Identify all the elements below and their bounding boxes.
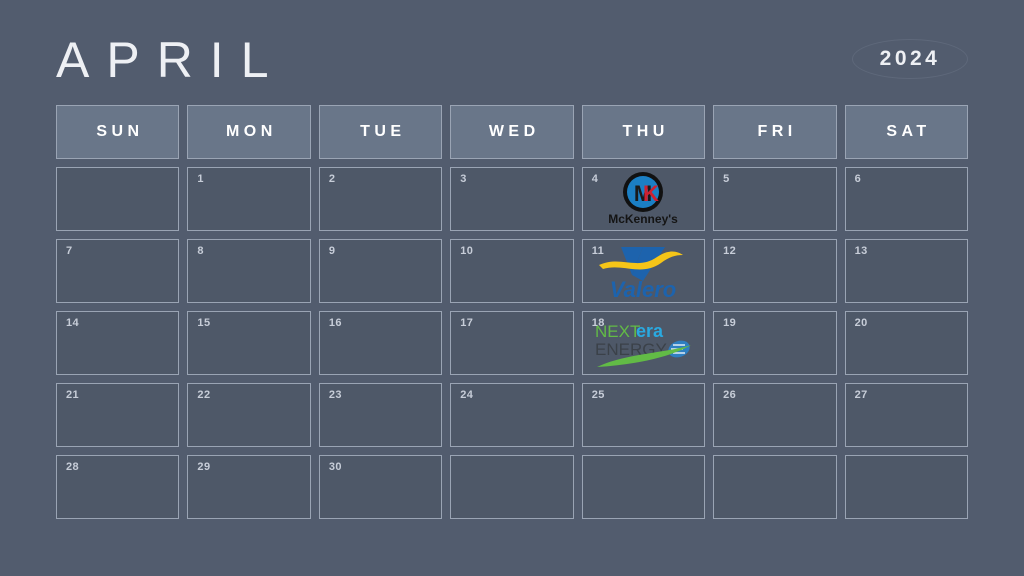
calendar-day-cell[interactable]: 6 bbox=[845, 167, 968, 231]
day-number: 21 bbox=[66, 389, 79, 401]
day-number: 9 bbox=[329, 245, 336, 257]
calendar-week-row: 7891011 Valero 1213 bbox=[56, 239, 968, 303]
day-number: 24 bbox=[460, 389, 473, 401]
weekday-label: WED bbox=[484, 123, 539, 141]
calendar-day-cell-empty[interactable] bbox=[56, 167, 179, 231]
svg-text:K: K bbox=[643, 181, 659, 206]
weekday-label: THU bbox=[618, 123, 669, 141]
day-number: 16 bbox=[329, 317, 342, 329]
calendar-week-row: 1234 M K McKenney's 56 bbox=[56, 167, 968, 231]
month-title: APRIL bbox=[56, 21, 286, 85]
day-number: 28 bbox=[66, 461, 79, 473]
calendar-day-cell[interactable]: 30 bbox=[319, 455, 442, 519]
day-number: 25 bbox=[592, 389, 605, 401]
calendar-header: APRIL 2024 bbox=[56, 0, 968, 105]
day-number: 19 bbox=[723, 317, 736, 329]
calendar-day-cell[interactable]: 27 bbox=[845, 383, 968, 447]
weekday-header-fri: FRI bbox=[713, 105, 836, 159]
day-number: 29 bbox=[197, 461, 210, 473]
calendar-week-row: 21222324252627 bbox=[56, 383, 968, 447]
calendar-day-cell[interactable]: 3 bbox=[450, 167, 573, 231]
day-number: 11 bbox=[592, 245, 604, 257]
calendar: APRIL 2024 SUNMONTUEWEDTHUFRISAT 1234 M … bbox=[0, 0, 1024, 576]
calendar-day-cell[interactable]: 11 Valero bbox=[582, 239, 705, 303]
day-number: 10 bbox=[460, 245, 473, 257]
day-number: 20 bbox=[855, 317, 868, 329]
weekday-header-sat: SAT bbox=[845, 105, 968, 159]
day-number: 5 bbox=[723, 173, 730, 185]
day-number: 8 bbox=[197, 245, 204, 257]
weekday-label: SUN bbox=[92, 123, 144, 141]
calendar-day-cell[interactable]: 14 bbox=[56, 311, 179, 375]
weekday-header-sun: SUN bbox=[56, 105, 179, 159]
calendar-day-cell[interactable]: 9 bbox=[319, 239, 442, 303]
calendar-body: 1234 M K McKenney's 567891011 Valero 121… bbox=[56, 167, 968, 519]
day-number: 30 bbox=[329, 461, 342, 473]
weekday-label: MON bbox=[221, 123, 276, 141]
day-number: 18 bbox=[592, 317, 605, 329]
day-number: 27 bbox=[855, 389, 868, 401]
day-number: 26 bbox=[723, 389, 736, 401]
calendar-week-row: 282930 bbox=[56, 455, 968, 519]
calendar-day-cell-empty[interactable] bbox=[582, 455, 705, 519]
calendar-day-cell[interactable]: 28 bbox=[56, 455, 179, 519]
calendar-day-cell[interactable]: 5 bbox=[713, 167, 836, 231]
svg-text:era: era bbox=[636, 321, 664, 341]
day-number: 7 bbox=[66, 245, 73, 257]
day-number: 2 bbox=[329, 173, 336, 185]
calendar-day-cell[interactable]: 26 bbox=[713, 383, 836, 447]
day-number: 3 bbox=[460, 173, 467, 185]
day-number: 14 bbox=[66, 317, 79, 329]
weekday-label: SAT bbox=[882, 123, 931, 141]
calendar-day-cell-empty[interactable] bbox=[450, 455, 573, 519]
weekday-header-mon: MON bbox=[187, 105, 310, 159]
day-number: 12 bbox=[723, 245, 736, 257]
day-number: 23 bbox=[329, 389, 342, 401]
day-number: 22 bbox=[197, 389, 210, 401]
calendar-day-cell[interactable]: 17 bbox=[450, 311, 573, 375]
calendar-week-row: 1415161718 NEXT era ENERGY 1920 bbox=[56, 311, 968, 375]
day-number: 17 bbox=[460, 317, 473, 329]
mckenneys-logo[interactable]: M K McKenney's bbox=[583, 168, 704, 230]
valero-logo-svg: Valero bbox=[591, 241, 695, 301]
calendar-day-cell[interactable]: 23 bbox=[319, 383, 442, 447]
svg-text:McKenney's: McKenney's bbox=[609, 212, 679, 226]
calendar-day-cell[interactable]: 18 NEXT era ENERGY bbox=[582, 311, 705, 375]
mckenneys-logo-svg: M K McKenney's bbox=[606, 171, 680, 227]
calendar-day-cell[interactable]: 1 bbox=[187, 167, 310, 231]
calendar-day-cell[interactable]: 25 bbox=[582, 383, 705, 447]
calendar-day-cell[interactable]: 15 bbox=[187, 311, 310, 375]
day-number: 13 bbox=[855, 245, 868, 257]
year-label: 2024 bbox=[880, 47, 941, 71]
day-number: 15 bbox=[197, 317, 210, 329]
year-badge: 2024 bbox=[852, 39, 968, 79]
weekday-label: FRI bbox=[753, 123, 797, 141]
calendar-day-cell[interactable]: 4 M K McKenney's bbox=[582, 167, 705, 231]
calendar-day-cell[interactable]: 21 bbox=[56, 383, 179, 447]
weekday-header-wed: WED bbox=[450, 105, 573, 159]
weekday-label: TUE bbox=[356, 123, 406, 141]
calendar-day-cell[interactable]: 10 bbox=[450, 239, 573, 303]
calendar-day-cell[interactable]: 29 bbox=[187, 455, 310, 519]
calendar-day-cell[interactable]: 8 bbox=[187, 239, 310, 303]
weekday-header-row: SUNMONTUEWEDTHUFRISAT bbox=[56, 105, 968, 159]
calendar-day-cell[interactable]: 24 bbox=[450, 383, 573, 447]
calendar-day-cell[interactable]: 7 bbox=[56, 239, 179, 303]
svg-text:Valero: Valero bbox=[610, 277, 676, 301]
calendar-day-cell[interactable]: 22 bbox=[187, 383, 310, 447]
weekday-header-thu: THU bbox=[582, 105, 705, 159]
calendar-day-cell-empty[interactable] bbox=[713, 455, 836, 519]
calendar-day-cell[interactable]: 20 bbox=[845, 311, 968, 375]
calendar-day-cell-empty[interactable] bbox=[845, 455, 968, 519]
calendar-day-cell[interactable]: 2 bbox=[319, 167, 442, 231]
day-number: 4 bbox=[592, 173, 599, 185]
calendar-day-cell[interactable]: 19 bbox=[713, 311, 836, 375]
day-number: 1 bbox=[197, 173, 204, 185]
calendar-day-cell[interactable]: 13 bbox=[845, 239, 968, 303]
day-number: 6 bbox=[855, 173, 862, 185]
calendar-day-cell[interactable]: 12 bbox=[713, 239, 836, 303]
weekday-header-tue: TUE bbox=[319, 105, 442, 159]
calendar-day-cell[interactable]: 16 bbox=[319, 311, 442, 375]
